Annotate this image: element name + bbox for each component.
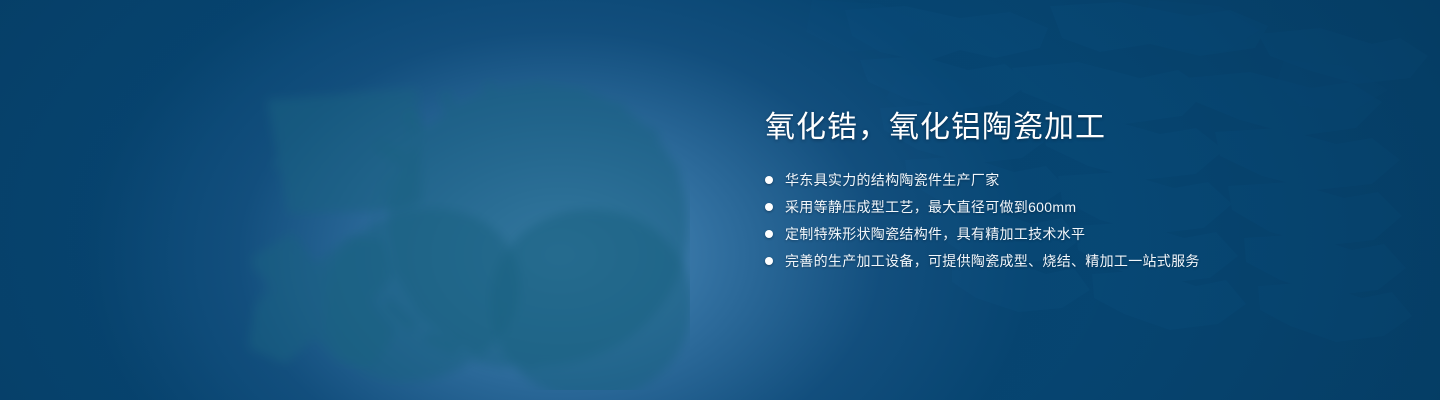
cross-shaped-ceramic-part	[246, 226, 392, 360]
list-item: 定制特殊形状陶瓷结构件，具有精加工技术水平	[765, 224, 1325, 244]
bullet-dot-icon	[765, 230, 773, 238]
page-title: 氧化锆，氧化铝陶瓷加工	[765, 108, 1325, 148]
feature-text: 采用等静压成型工艺，最大直径可做到600mm	[785, 197, 1076, 217]
banner-copy: 氧化锆，氧化铝陶瓷加工 华东具实力的结构陶瓷件生产厂家 采用等静压成型工艺，最大…	[765, 108, 1325, 278]
feature-list: 华东具实力的结构陶瓷件生产厂家 采用等静压成型工艺，最大直径可做到600mm 定…	[765, 170, 1325, 271]
feature-text: 定制特殊形状陶瓷结构件，具有精加工技术水平	[785, 224, 1085, 244]
bullet-dot-icon	[765, 203, 773, 211]
list-item: 采用等静压成型工艺，最大直径可做到600mm	[765, 197, 1325, 217]
bullet-dot-icon	[765, 257, 773, 265]
ceramic-products-photo	[230, 40, 690, 390]
hero-banner: 氧化锆，氧化铝陶瓷加工 华东具实力的结构陶瓷件生产厂家 采用等静压成型工艺，最大…	[0, 0, 1440, 400]
perforated-ceramic-disc	[488, 204, 688, 390]
bullet-dot-icon	[765, 176, 773, 184]
list-item: 完善的生产加工设备，可提供陶瓷成型、烧结、精加工一站式服务	[765, 251, 1325, 271]
feature-text: 完善的生产加工设备，可提供陶瓷成型、烧结、精加工一站式服务	[785, 251, 1200, 271]
feature-text: 华东具实力的结构陶瓷件生产厂家	[785, 170, 1000, 190]
list-item: 华东具实力的结构陶瓷件生产厂家	[765, 170, 1325, 190]
